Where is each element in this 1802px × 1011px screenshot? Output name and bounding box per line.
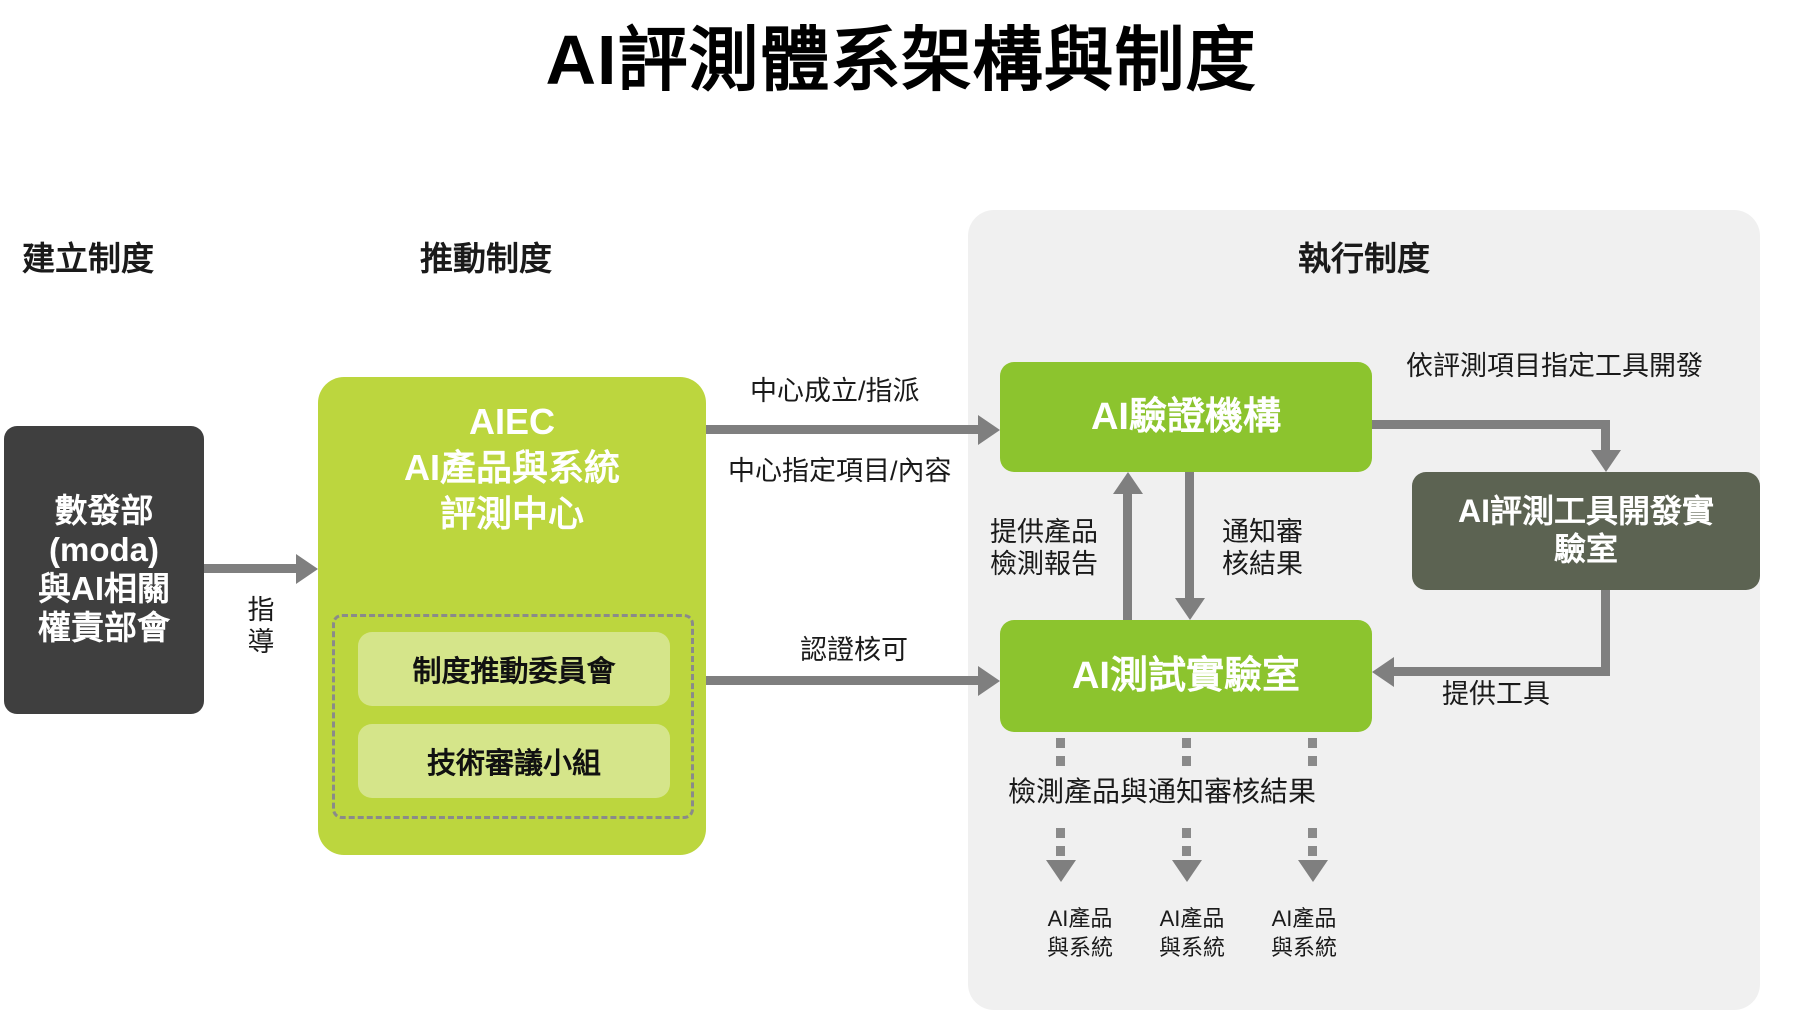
arrowhead-certification-to-testlab: [1175, 598, 1205, 620]
box-technical-review-group[interactable]: 技術審議小組: [358, 724, 670, 798]
page-title: AI評測體系架構與制度: [0, 22, 1802, 99]
product-label-3: AI產品 與系統: [1244, 905, 1364, 962]
box-certification-body-label: AI驗證機構: [1091, 395, 1281, 440]
box-moda-label: 數發部 (moda) 與AI相關 權責部會: [38, 492, 170, 648]
connector-certification-to-tooldev-h: [1372, 420, 1610, 429]
arrowhead-tooldev-to-testlab: [1372, 657, 1394, 687]
column-header-promote: 推動制度: [420, 232, 552, 280]
box-tool-development-lab[interactable]: AI評測工具開發實 驗室: [1412, 472, 1760, 590]
box-promotion-committee-label: 制度推動委員會: [412, 648, 615, 690]
box-certification-body[interactable]: AI驗證機構: [1000, 362, 1372, 472]
arrowhead-moda-to-aiec: [296, 554, 318, 584]
connector-testlab-to-certification: [1123, 492, 1132, 620]
dotted-connector-1-upper: [1056, 738, 1065, 774]
connector-certification-to-tooldev-v: [1601, 420, 1610, 452]
edge-label-center-setup: 中心成立/指派: [750, 375, 920, 407]
box-aiec-title: AIEC AI產品與系統 評測中心: [318, 399, 706, 537]
connector-aiec-to-certification: [706, 425, 978, 434]
dotted-connector-2-lower: [1182, 828, 1191, 864]
box-tool-development-lab-label: AI評測工具開發實 驗室: [1458, 493, 1714, 569]
box-technical-review-group-label: 技術審議小組: [427, 740, 601, 782]
edge-label-certification-approval: 認證核可: [800, 634, 908, 666]
dotted-connector-2-upper: [1182, 738, 1191, 774]
arrowhead-aiec-to-certification: [978, 415, 1000, 445]
dotted-connector-3-upper: [1308, 738, 1317, 774]
edge-label-notify-result: 通知審 核結果: [1222, 516, 1303, 581]
connector-moda-to-aiec: [204, 564, 296, 573]
edge-label-test-and-notify: 檢測產品與通知審核結果: [1008, 775, 1316, 809]
arrowhead-testlab-to-certification: [1113, 472, 1143, 494]
edge-label-tool-development: 依評測項目指定工具開發: [1406, 350, 1703, 382]
edge-label-guide: 指 導: [238, 594, 284, 659]
edge-label-center-assign: 中心指定項目/內容: [728, 455, 952, 487]
diagram-canvas: AI評測體系架構與制度 建立制度 推動制度 執行制度 數發部 (moda) 與A…: [0, 0, 1802, 1011]
dotted-connector-1-lower: [1056, 828, 1065, 864]
box-moda[interactable]: 數發部 (moda) 與AI相關 權責部會: [4, 426, 204, 714]
arrowhead-product-1: [1046, 860, 1076, 882]
dotted-connector-3-lower: [1308, 828, 1317, 864]
product-label-2: AI產品 與系統: [1132, 905, 1252, 962]
arrowhead-product-2: [1172, 860, 1202, 882]
box-test-lab-label: AI測試實驗室: [1072, 654, 1300, 699]
edge-label-provide-report: 提供產品 檢測報告: [990, 516, 1098, 581]
product-label-1: AI產品 與系統: [1020, 905, 1140, 962]
box-promotion-committee[interactable]: 制度推動委員會: [358, 632, 670, 706]
column-header-execute: 執行制度: [968, 232, 1760, 280]
column-header-establish: 建立制度: [22, 232, 154, 280]
arrowhead-certification-to-tooldev: [1591, 450, 1621, 472]
connector-certification-to-testlab: [1185, 472, 1194, 600]
edge-label-provide-tool: 提供工具: [1442, 678, 1550, 710]
connector-aiec-to-testlab: [706, 676, 978, 685]
connector-tooldev-to-testlab-h: [1394, 667, 1608, 676]
arrowhead-aiec-to-testlab: [978, 666, 1000, 696]
arrowhead-product-3: [1298, 860, 1328, 882]
connector-tooldev-to-testlab-v: [1601, 590, 1610, 676]
execution-panel: [968, 210, 1760, 1010]
box-test-lab[interactable]: AI測試實驗室: [1000, 620, 1372, 732]
